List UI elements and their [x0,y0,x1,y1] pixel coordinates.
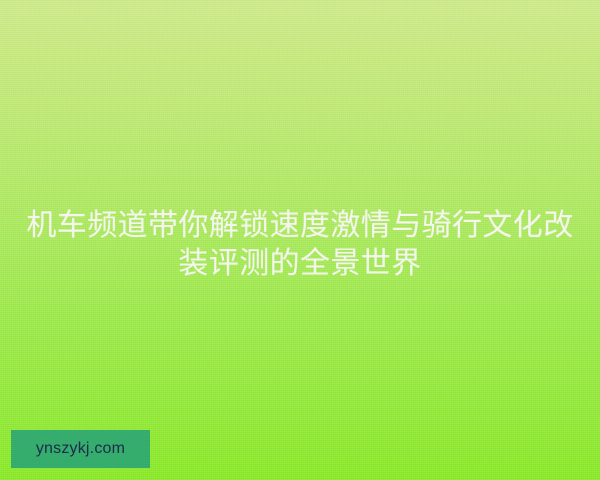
site-watermark-label: ynszykj.com [36,441,125,457]
banner-headline: 机车频道带你解锁速度激情与骑行文化改装评测的全景世界 [0,207,600,283]
site-watermark-badge: ynszykj.com [11,430,150,468]
promo-banner: 机车频道带你解锁速度激情与骑行文化改装评测的全景世界 ynszykj.com [0,0,600,480]
